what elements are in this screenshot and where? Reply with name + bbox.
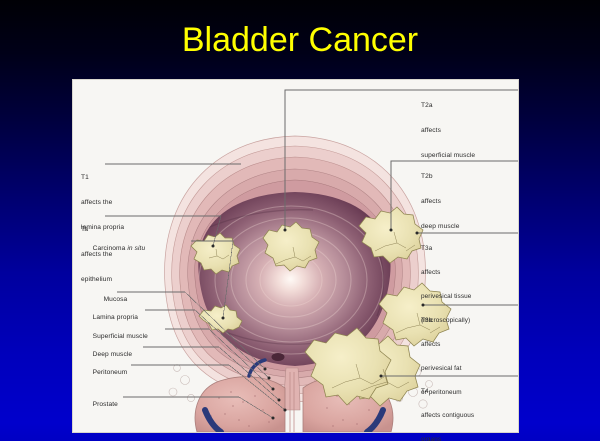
slide-canvas: Bladder Cancer	[0, 0, 600, 441]
label-mucosa-text: Mucosa	[104, 296, 128, 303]
label-t1-line-0: T1	[81, 174, 124, 182]
label-cis-text: Carcinoma in situ	[93, 245, 146, 252]
label-peritoneum-text: Peritoneum	[93, 369, 128, 376]
label-carcinoma-in-situ: Carcinoma in situ	[81, 237, 145, 262]
label-t2a-line-0: T2a	[421, 102, 475, 110]
label-t3b-line-0: T3b	[421, 317, 462, 325]
label-t2a-line-1: affects	[421, 127, 475, 135]
label-peritoneum: Peritoneum	[81, 361, 127, 386]
label-superficial-muscle-text: Superficial muscle	[93, 333, 148, 340]
label-prostate-text: Prostate	[93, 401, 118, 408]
label-deep-muscle-text: Deep muscle	[93, 351, 133, 358]
label-t2b-line-0: T2b	[421, 173, 460, 181]
label-t3a-line-2: perivesical tissue	[421, 293, 471, 301]
ureteric-orifice	[272, 353, 285, 361]
label-t3b-line-1: affects	[421, 341, 462, 349]
label-t4-line-2: organs	[421, 436, 474, 441]
label-t4-line-0: T4	[421, 388, 474, 396]
label-t4-line-1: affects contiguous	[421, 412, 474, 420]
label-t3a-line-1: affects	[421, 269, 471, 277]
label-lamina-propria-text: Lamina propria	[93, 314, 138, 321]
label-t3a-line-0: T3a	[421, 245, 471, 253]
label-ta-line-0: Ta	[81, 226, 112, 234]
figure-panel: T1 affects the lamina propria Ta affects…	[73, 80, 518, 432]
label-t4: T4 affects contiguous organs	[421, 372, 474, 441]
label-t1-line-1: affects the	[81, 199, 124, 207]
label-prostate: Prostate	[81, 393, 118, 418]
page-title: Bladder Cancer	[0, 20, 600, 60]
label-t2b-line-1: affects	[421, 198, 460, 206]
label-ta-line-2: epithelium	[81, 276, 112, 284]
